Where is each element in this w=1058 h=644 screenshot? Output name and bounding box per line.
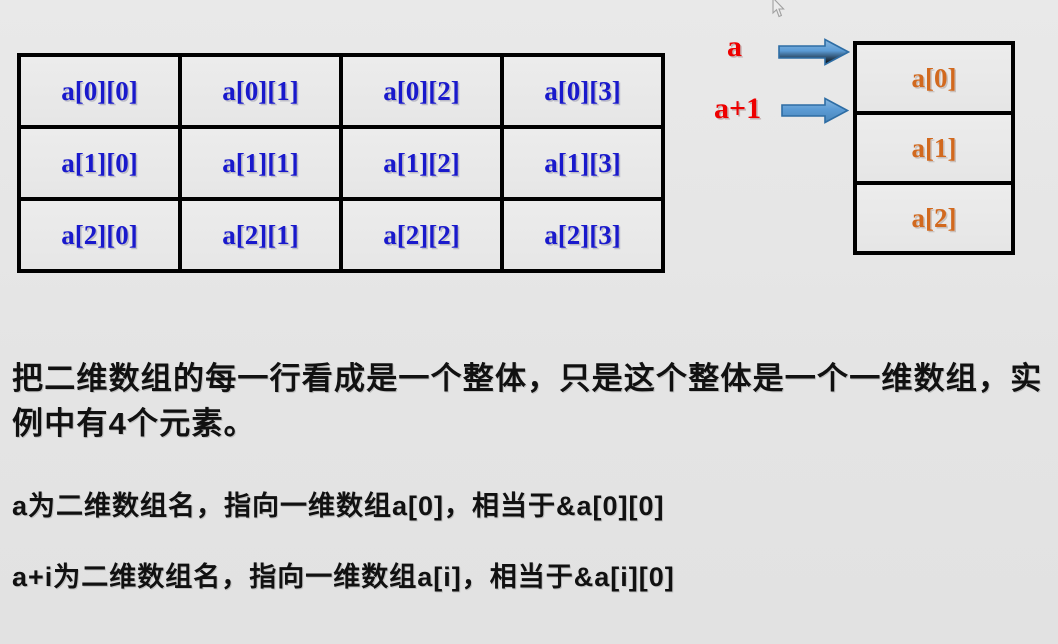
row-cell: a[0] (855, 43, 1013, 113)
explanation-paragraph-main: 把二维数组的每一行看成是一个整体，只是这个整体是一个一维数组，实例中有4个元素。 (12, 356, 1056, 446)
matrix-cell: a[2][1] (180, 199, 341, 271)
table-row: a[1] (855, 113, 1013, 183)
matrix-cell-label: a[1][3] (544, 148, 620, 178)
row-cell-label: a[0] (912, 63, 957, 93)
table-row: a[0] (855, 43, 1013, 113)
pointer-label-a-plus-1: a+1 (714, 92, 761, 126)
arrow-right-icon (778, 38, 850, 66)
row-pointer-column: a[0] a[1] a[2] (853, 41, 1015, 255)
table-row: a[0][0] a[0][1] a[0][2] a[0][3] (19, 55, 663, 127)
matrix-cell: a[0][2] (341, 55, 502, 127)
matrix-cell: a[1][3] (502, 127, 663, 199)
matrix-cell-label: a[2][1] (222, 220, 298, 250)
matrix-cell-label: a[0][3] (544, 76, 620, 106)
table-row: a[2][0] a[2][1] a[2][2] a[2][3] (19, 199, 663, 271)
matrix-cell-label: a[0][0] (61, 76, 137, 106)
matrix-cell: a[2][0] (19, 199, 180, 271)
matrix-cell-label: a[0][2] (383, 76, 459, 106)
matrix-cell: a[1][0] (19, 127, 180, 199)
row-cell: a[2] (855, 183, 1013, 253)
matrix-cell-label: a[2][3] (544, 220, 620, 250)
matrix-cell: a[2][2] (341, 199, 502, 271)
table-row: a[1][0] a[1][1] a[1][2] a[1][3] (19, 127, 663, 199)
matrix-cell: a[2][3] (502, 199, 663, 271)
mouse-cursor-icon (772, 0, 786, 18)
two-dimensional-array-grid: a[0][0] a[0][1] a[0][2] a[0][3] a[1][0] … (17, 53, 665, 273)
matrix-cell-label: a[1][1] (222, 148, 298, 178)
matrix-cell-label: a[1][0] (61, 148, 137, 178)
explanation-line-a: a为二维数组名，指向一维数组a[0]，相当于&a[0][0] (12, 487, 1042, 525)
slide-canvas: a[0][0] a[0][1] a[0][2] a[0][3] a[1][0] … (0, 0, 1058, 644)
matrix-cell-label: a[0][1] (222, 76, 298, 106)
matrix-cell-label: a[1][2] (383, 148, 459, 178)
matrix-cell: a[1][1] (180, 127, 341, 199)
explanation-line-a-plus-i: a+i为二维数组名，指向一维数组a[i]，相当于&a[i][0] (12, 558, 1042, 596)
matrix-cell: a[1][2] (341, 127, 502, 199)
matrix-cell: a[0][3] (502, 55, 663, 127)
matrix-cell: a[0][0] (19, 55, 180, 127)
table-row: a[2] (855, 183, 1013, 253)
pointer-label-a: a (727, 30, 742, 64)
matrix-cell-label: a[2][0] (61, 220, 137, 250)
matrix-cell-label: a[2][2] (383, 220, 459, 250)
row-cell-label: a[1] (912, 133, 957, 163)
row-cell: a[1] (855, 113, 1013, 183)
arrow-right-icon (781, 97, 849, 124)
matrix-cell: a[0][1] (180, 55, 341, 127)
row-cell-label: a[2] (912, 203, 957, 233)
